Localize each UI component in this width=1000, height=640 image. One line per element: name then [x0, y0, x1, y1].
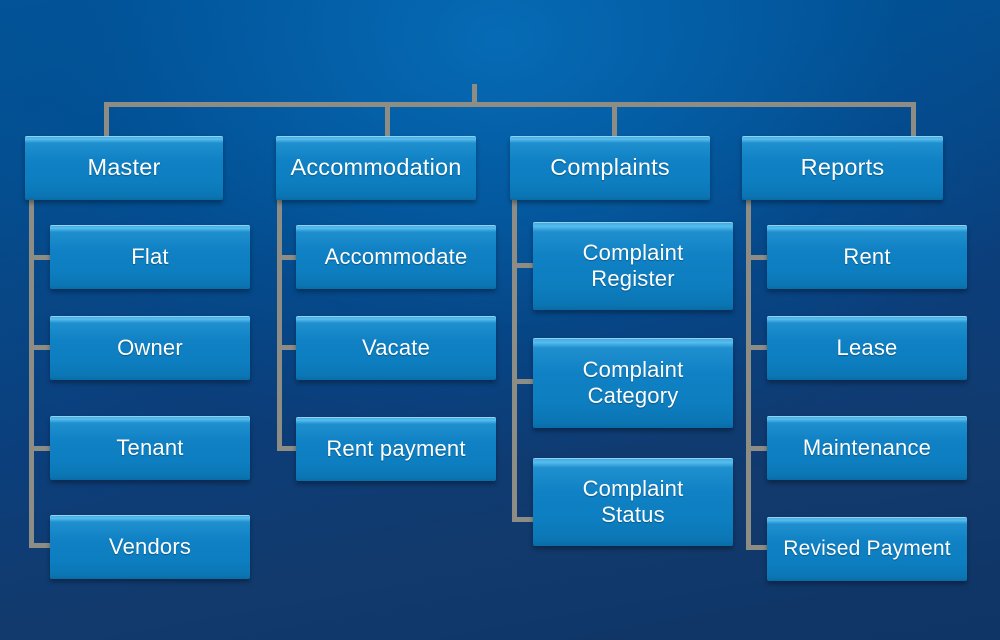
node-label: Complaint Category — [577, 357, 690, 408]
node-label: Rent payment — [320, 436, 471, 462]
node-label: Complaint Register — [577, 240, 690, 291]
node-label: Reports — [795, 154, 891, 181]
stem-connector-master — [104, 102, 109, 138]
node-label: Complaint Status — [577, 476, 690, 527]
node-complaint-register[interactable]: Complaint Register — [533, 222, 733, 310]
node-label: Master — [81, 154, 166, 181]
node-owner[interactable]: Owner — [50, 316, 250, 380]
spine-connector-complaints — [512, 200, 517, 522]
node-label: Owner — [111, 335, 189, 361]
node-maintenance[interactable]: Maintenance — [767, 416, 967, 480]
stem-connector-complaints — [612, 102, 617, 138]
diagram-canvas: Master Flat Owner Tenant Vendors Accommo… — [0, 0, 1000, 640]
node-label: Vacate — [356, 335, 436, 361]
node-label: Accommodation — [284, 154, 467, 181]
node-accommodate[interactable]: Accommodate — [296, 225, 496, 289]
node-label: Vendors — [103, 534, 197, 560]
node-label: Rent — [837, 244, 896, 270]
spine-connector-reports — [746, 200, 751, 548]
node-rent[interactable]: Rent — [767, 225, 967, 289]
spine-connector-accommodation — [277, 200, 282, 450]
root-bus-connector — [104, 102, 916, 107]
node-label: Lease — [831, 335, 904, 361]
node-accommodation[interactable]: Accommodation — [276, 136, 476, 200]
node-complaints[interactable]: Complaints — [510, 136, 710, 200]
stem-connector-reports — [911, 102, 916, 138]
node-tenant[interactable]: Tenant — [50, 416, 250, 480]
node-vendors[interactable]: Vendors — [50, 515, 250, 579]
node-label: Flat — [125, 244, 174, 270]
node-revised-payment[interactable]: Revised Payment — [767, 517, 967, 581]
node-complaint-status[interactable]: Complaint Status — [533, 458, 733, 546]
node-complaint-category[interactable]: Complaint Category — [533, 338, 733, 428]
stem-connector-accommodation — [385, 102, 390, 138]
node-label: Complaints — [544, 154, 676, 181]
node-label: Maintenance — [797, 435, 937, 461]
node-reports[interactable]: Reports — [742, 136, 943, 200]
spine-connector-master — [29, 200, 34, 548]
node-master[interactable]: Master — [25, 136, 223, 200]
node-label: Accommodate — [319, 244, 474, 270]
node-label: Tenant — [110, 435, 189, 461]
node-lease[interactable]: Lease — [767, 316, 967, 380]
node-label: Revised Payment — [777, 537, 957, 561]
node-vacate[interactable]: Vacate — [296, 316, 496, 380]
node-rent-payment[interactable]: Rent payment — [296, 417, 496, 481]
node-flat[interactable]: Flat — [50, 225, 250, 289]
